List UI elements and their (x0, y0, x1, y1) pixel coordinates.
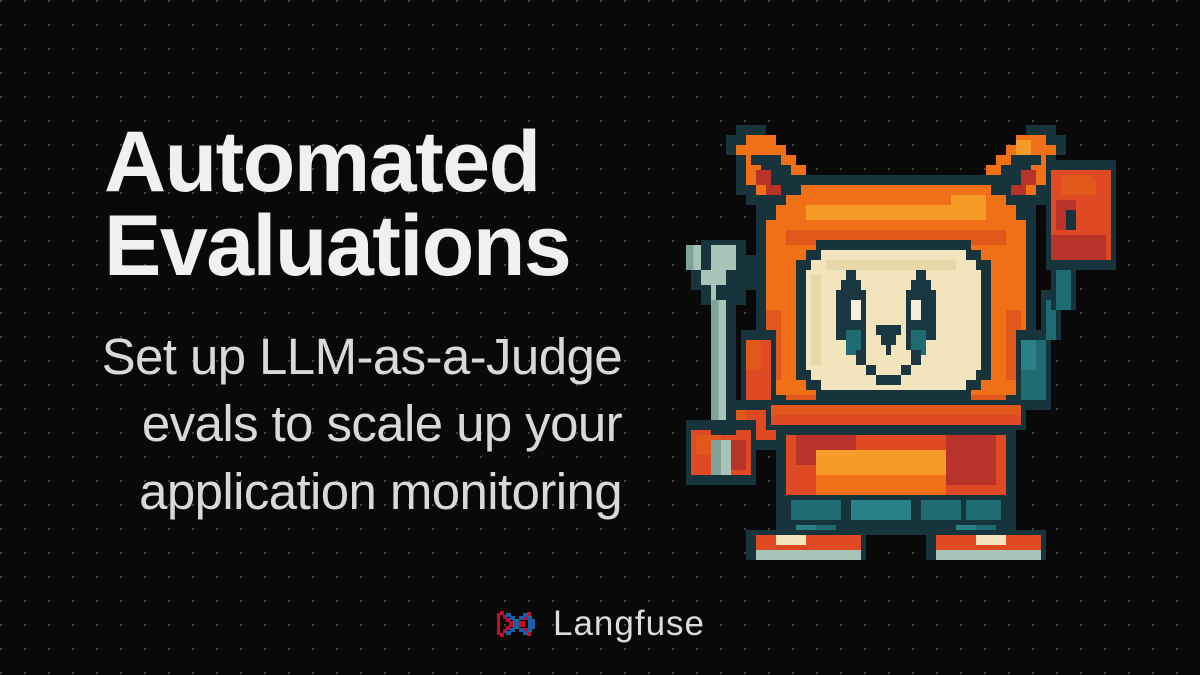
langfuse-logo-mark-icon (495, 605, 537, 643)
page-title: Automated Evaluations (0, 120, 640, 289)
brand-name: Langfuse (553, 604, 705, 644)
brand-lockup: Langfuse (0, 604, 1200, 644)
mascot-face (796, 240, 991, 400)
poster-canvas: Automated Evaluations Set up LLM-as-a-Ju… (0, 0, 1200, 675)
mascot-illustration (676, 110, 1116, 560)
mascot-torso (766, 400, 1026, 535)
hero-text-block: Automated Evaluations Set up LLM-as-a-Ju… (0, 120, 640, 526)
page-subtitle: Set up LLM-as-a-Judge evals to scale up … (0, 323, 640, 526)
